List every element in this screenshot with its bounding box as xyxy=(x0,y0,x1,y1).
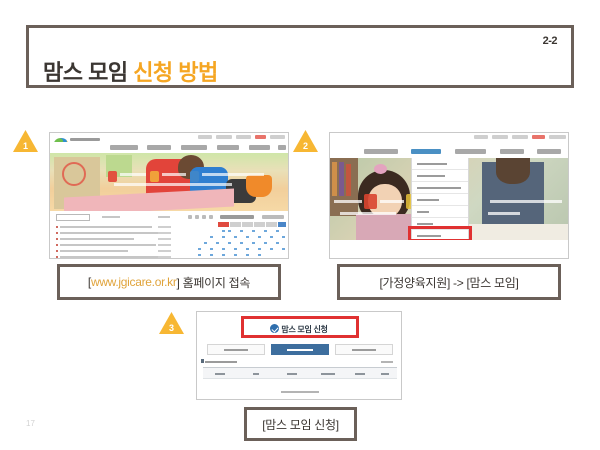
table-header-period xyxy=(321,373,335,375)
shot2-hero-banner xyxy=(330,158,568,240)
board-row-title[interactable] xyxy=(60,238,134,240)
nav-item-home-care[interactable] xyxy=(147,145,171,150)
page-size-select[interactable] xyxy=(381,361,393,363)
page-title-accent: 신청 방법 xyxy=(133,60,218,85)
list-sub-label xyxy=(205,361,237,363)
cal-weekday xyxy=(242,222,253,227)
shot2-global-nav[interactable] xyxy=(330,144,568,158)
nav-item-menu[interactable] xyxy=(278,145,286,150)
caption-3-text: [맘스 모임 신청] xyxy=(262,416,339,433)
board-row-title[interactable] xyxy=(60,256,164,258)
step-marker-1: 1 xyxy=(13,130,38,152)
calendar-more-link[interactable] xyxy=(262,215,284,219)
nav-item-guide[interactable] xyxy=(364,149,398,154)
cal-weekday xyxy=(278,222,286,227)
dropdown-item-1[interactable] xyxy=(412,170,468,182)
step-marker-3-number: 3 xyxy=(159,323,184,333)
nav-item-home-care[interactable] xyxy=(411,149,441,154)
table-header-title xyxy=(287,373,297,375)
dropdown-item-2[interactable] xyxy=(412,182,468,194)
step-marker-1-number: 1 xyxy=(13,141,38,151)
cal-weekday xyxy=(218,222,229,227)
tab-schedule[interactable] xyxy=(207,344,265,355)
board-row-title[interactable] xyxy=(60,244,156,246)
table-empty-message xyxy=(281,391,319,393)
cal-weekday xyxy=(254,222,265,227)
shot1-calendar-widget[interactable] xyxy=(188,211,286,258)
cal-weekday xyxy=(266,222,277,227)
shot1-lower-section xyxy=(50,211,288,258)
shot2-utility-bar xyxy=(330,133,568,144)
nav-item-daycare[interactable] xyxy=(455,149,486,154)
caption-2-text: [가정양육지원] -> [맘스 모임] xyxy=(379,274,518,291)
shot1-global-nav[interactable] xyxy=(50,142,288,153)
board-row-date xyxy=(158,238,171,240)
board-row-date xyxy=(158,232,171,234)
step-marker-3: 3 xyxy=(159,312,184,334)
board-tab-press[interactable] xyxy=(102,216,120,218)
dropdown-item-3[interactable] xyxy=(412,194,468,206)
nav-item-community[interactable] xyxy=(249,145,270,150)
dropdown-item-0[interactable] xyxy=(412,158,468,170)
nav-item-daycare[interactable] xyxy=(181,145,207,150)
board-bullet xyxy=(56,250,58,252)
page-title-plain: 맘스 모임 xyxy=(43,60,133,85)
cal-weekday xyxy=(230,222,241,227)
util-link-current[interactable] xyxy=(255,135,266,139)
util-link-logout[interactable] xyxy=(512,135,528,139)
board-tab-notice[interactable] xyxy=(56,214,90,221)
step-marker-2-number: 2 xyxy=(293,141,318,151)
caption-step-2: [가정양육지원] -> [맘스 모임] xyxy=(337,264,561,300)
page-number: 17 xyxy=(26,419,35,428)
board-more-link[interactable] xyxy=(158,216,170,218)
slide-code: 2-2 xyxy=(543,35,557,47)
title-highlight-box xyxy=(241,316,359,338)
board-row-date xyxy=(158,226,171,228)
table-header-note xyxy=(381,373,389,375)
page-title: 맘스 모임 신청 방법 xyxy=(43,55,218,87)
nav-item-community[interactable] xyxy=(537,149,561,154)
slide-title-box: 2-2 맘스 모임 신청 방법 xyxy=(26,25,574,88)
util-link-login[interactable] xyxy=(198,135,212,139)
screenshot-dropdown[interactable] xyxy=(329,132,569,259)
util-link-sitemap[interactable] xyxy=(236,135,251,139)
cal-nav-prev-icon[interactable] xyxy=(188,215,192,219)
table-header-row xyxy=(203,367,397,379)
calendar-title xyxy=(220,215,254,219)
board-row-date xyxy=(158,256,171,258)
caption-step-1: [ www.jgicare.or.kr ] 홈페이지 접속 xyxy=(57,264,281,300)
board-row-title[interactable] xyxy=(60,226,152,228)
caption-1-url: www.jgicare.or.kr xyxy=(91,275,177,289)
shot1-hero-banner xyxy=(50,153,288,211)
cal-nav-view-icon[interactable] xyxy=(209,215,213,219)
util-link-search[interactable] xyxy=(270,135,285,139)
board-bullet xyxy=(56,244,58,246)
caption-1-post: ] 홈페이지 접속 xyxy=(177,274,251,291)
logo-text-line-1 xyxy=(70,138,100,141)
shot1-hero-overlay xyxy=(50,153,288,211)
board-row-title[interactable] xyxy=(60,250,128,252)
board-bullet xyxy=(56,238,58,240)
board-bullet xyxy=(56,256,58,258)
bullet-icon xyxy=(201,359,204,363)
caption-step-3: [맘스 모임 신청] xyxy=(244,407,357,441)
cal-nav-today-icon[interactable] xyxy=(202,215,206,219)
cal-nav-next-icon[interactable] xyxy=(195,215,199,219)
table-header-type xyxy=(253,373,259,375)
board-row-date xyxy=(158,244,171,246)
dropdown-item-4[interactable] xyxy=(412,206,468,218)
util-link-edit-info[interactable] xyxy=(492,135,508,139)
util-link-search[interactable] xyxy=(549,135,566,139)
board-bullet xyxy=(56,226,58,228)
dropdown-highlight-box xyxy=(408,226,472,240)
board-row-date xyxy=(158,250,171,252)
util-link-admin[interactable] xyxy=(532,135,545,139)
screenshot-application-page[interactable]: 맘스 모임 신청 xyxy=(196,311,402,400)
tab-application-status[interactable] xyxy=(271,344,329,355)
board-bullet xyxy=(56,232,58,234)
slide-root: 2-2 맘스 모임 신청 방법 1 xyxy=(0,0,600,450)
table-header-no xyxy=(215,373,225,375)
step-marker-2: 2 xyxy=(293,130,318,152)
screenshot-homepage[interactable] xyxy=(49,132,289,259)
nav-item-counsel[interactable] xyxy=(500,149,524,154)
table-header-status xyxy=(355,373,365,375)
util-link-home[interactable] xyxy=(474,135,488,139)
nav-item-counsel[interactable] xyxy=(217,145,239,150)
board-row-title[interactable] xyxy=(60,232,160,234)
nav-item-guide[interactable] xyxy=(110,145,138,150)
util-link-signup[interactable] xyxy=(216,135,232,139)
tab-activity[interactable] xyxy=(335,344,393,355)
